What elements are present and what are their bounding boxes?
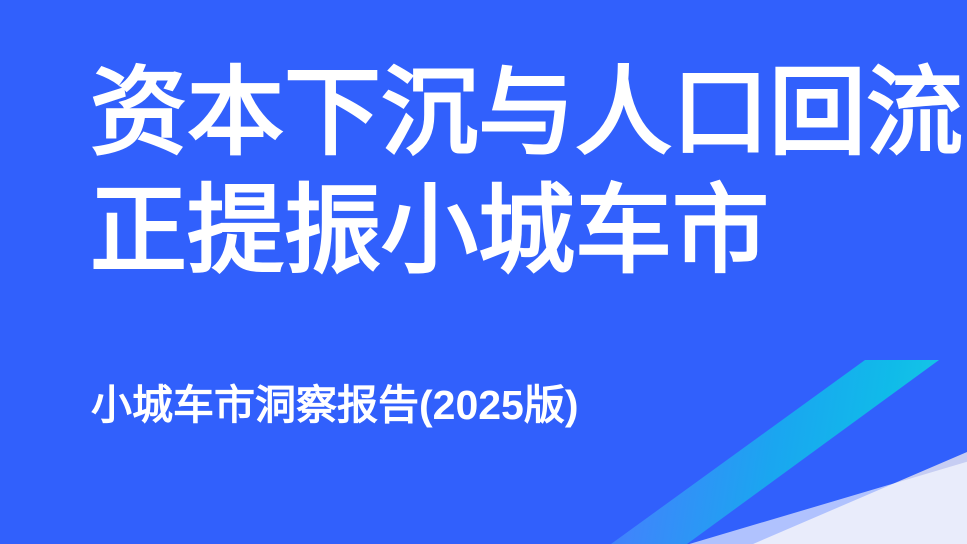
report-cover-poster: 资本下沉与人口回流 正提振小城车市 小城车市洞察报告(2025版) <box>0 0 967 544</box>
headline-line-2: 正提振小城车市 <box>90 172 930 290</box>
poster-content: 资本下沉与人口回流 正提振小城车市 小城车市洞察报告(2025版) <box>0 0 967 544</box>
page-title: 资本下沉与人口回流 正提振小城车市 <box>90 54 930 290</box>
headline-line-1: 资本下沉与人口回流 <box>90 54 930 172</box>
poster-subtitle: 小城车市洞察报告(2025版) <box>91 371 579 431</box>
